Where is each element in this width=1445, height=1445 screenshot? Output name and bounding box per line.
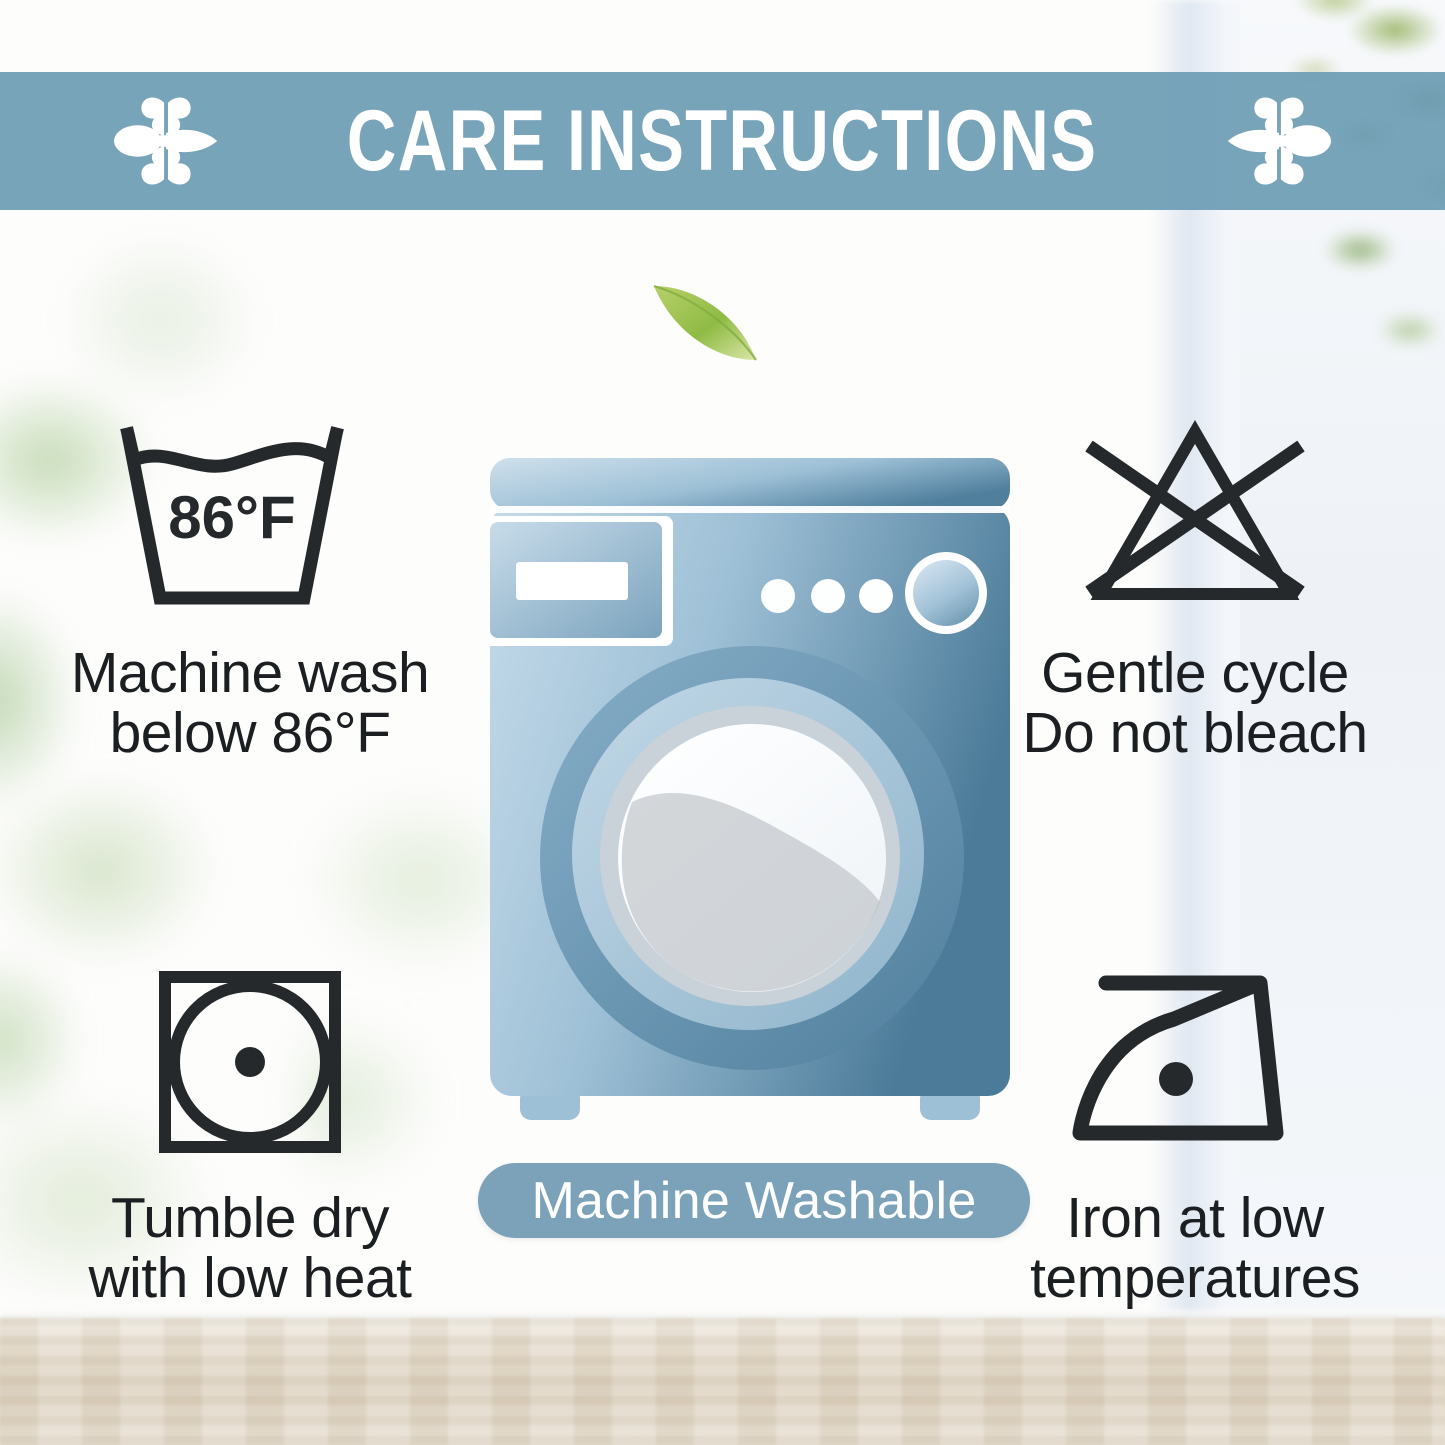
care-symbol-caption: Machine wash below 86°F [35,643,465,764]
icon-container [980,415,1410,625]
icon-container [35,960,465,1170]
control-knob[interactable] [913,560,979,626]
wooden-counter-surface [0,1318,1445,1445]
washing-machine-illustration [480,450,1020,1130]
care-symbol-tumble-dry: Tumble dry with low heat [35,960,465,1309]
care-symbol-caption: Iron at low temperatures [980,1188,1410,1309]
heat-level-dot [1159,1062,1193,1096]
heat-level-dot [235,1047,265,1077]
page-title: CARE INSTRUCTIONS [347,98,1097,184]
iron-icon [1064,965,1326,1165]
fleur-de-lis-icon [109,89,227,193]
care-symbol-caption: Tumble dry with low heat [35,1188,465,1309]
triangle-crossed-out-icon [1059,420,1331,620]
badge-label: Machine Washable [531,1171,976,1231]
foliage-background-lower [1290,210,1445,440]
floating-leaf-icon [640,268,775,378]
care-symbol-caption: Gentle cycle Do not bleach [980,643,1410,764]
care-symbol-machine-wash: 86°F Machine wash below 86°F [35,415,465,764]
lid-separator [490,506,1010,513]
care-instructions-infographic: CARE INSTRUCTIONS [0,0,1445,1445]
care-symbol-do-not-bleach: Gentle cycle Do not bleach [980,415,1410,764]
indicator-light[interactable] [761,579,795,613]
wash-tub-icon: 86°F [114,420,386,620]
care-symbol-iron: Iron at low temperatures [980,960,1410,1309]
tumble-dry-square-circle-icon [145,965,355,1165]
drawer-handle [516,562,628,600]
machine-top-lid [490,458,1010,510]
icon-container [980,960,1410,1170]
indicator-light[interactable] [859,579,893,613]
machine-washable-badge: Machine Washable [478,1163,1030,1238]
header-banner: CARE INSTRUCTIONS [0,72,1445,210]
fleur-de-lis-icon [1218,89,1336,193]
indicator-light[interactable] [811,579,845,613]
wash-temperature-value: 86°F [168,484,295,551]
icon-container: 86°F [35,415,465,625]
